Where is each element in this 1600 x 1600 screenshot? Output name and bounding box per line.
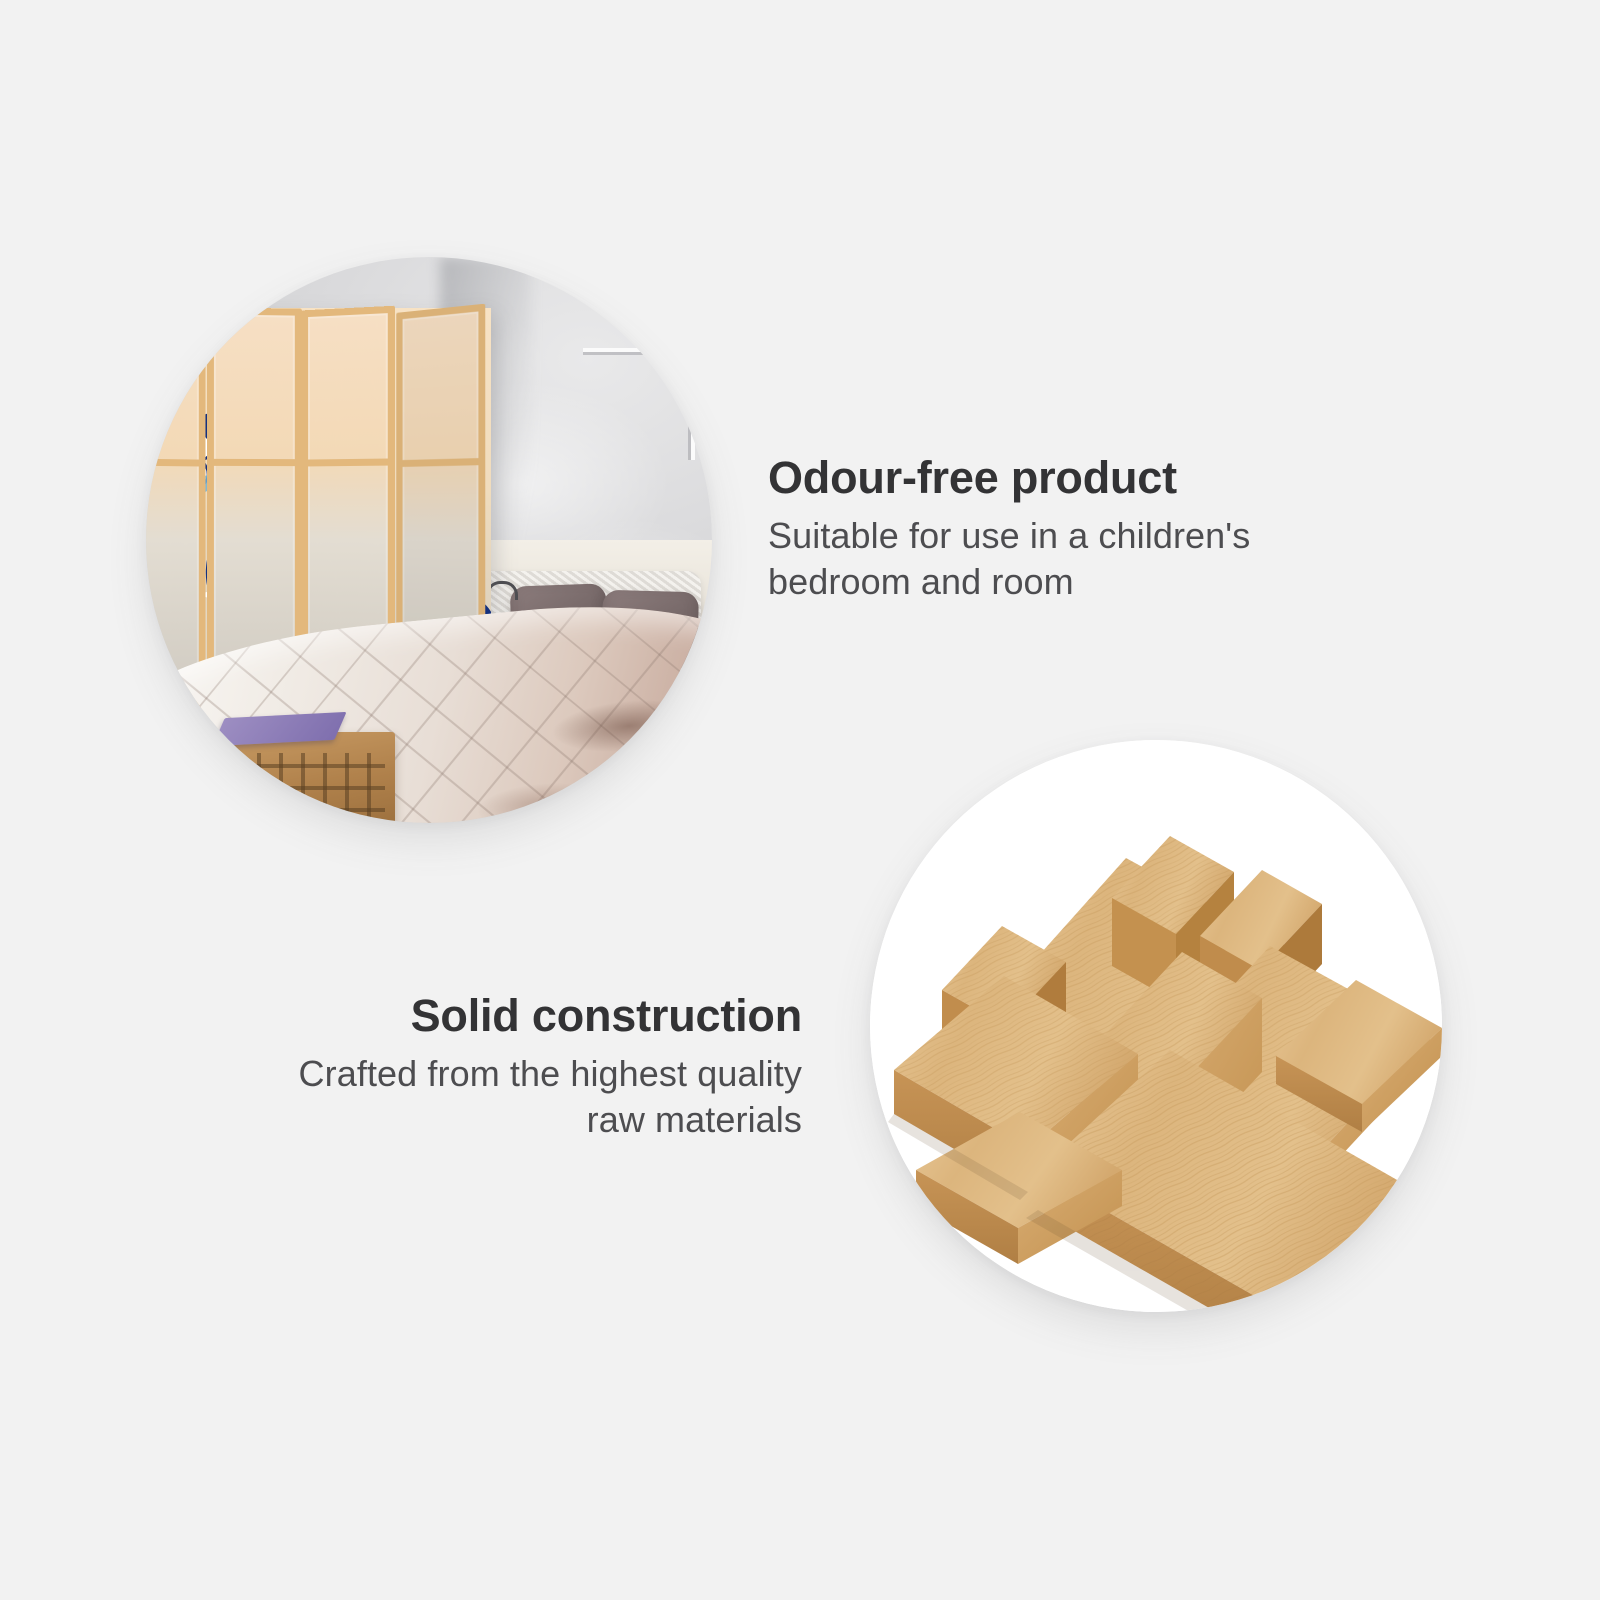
feature-image-odour-free: [146, 257, 712, 823]
picture-frame-corner: [583, 348, 695, 460]
feature-description-solid-construction: Crafted from the highest quality raw mat…: [240, 1051, 802, 1143]
bedroom-with-folding-screen-photo: [146, 257, 712, 823]
feature-title-solid-construction: Solid construction: [240, 990, 802, 1042]
feature-description-odour-free: Suitable for use in a children's bedroom…: [768, 513, 1328, 605]
feature-title-odour-free: Odour-free product: [768, 452, 1328, 504]
wicker-storage-chest: [225, 732, 395, 823]
stacked-timber-beams-photo: [870, 740, 1442, 1312]
feature-text-odour-free: Odour-free product Suitable for use in a…: [768, 452, 1328, 605]
infographic-canvas: Odour-free product Suitable for use in a…: [0, 0, 1600, 1600]
divider-panel-1: [146, 305, 205, 712]
timber-beams-illustration: [870, 740, 1442, 1312]
feature-image-solid-construction: [870, 740, 1442, 1312]
feature-text-solid-construction: Solid construction Crafted from the high…: [240, 990, 802, 1143]
